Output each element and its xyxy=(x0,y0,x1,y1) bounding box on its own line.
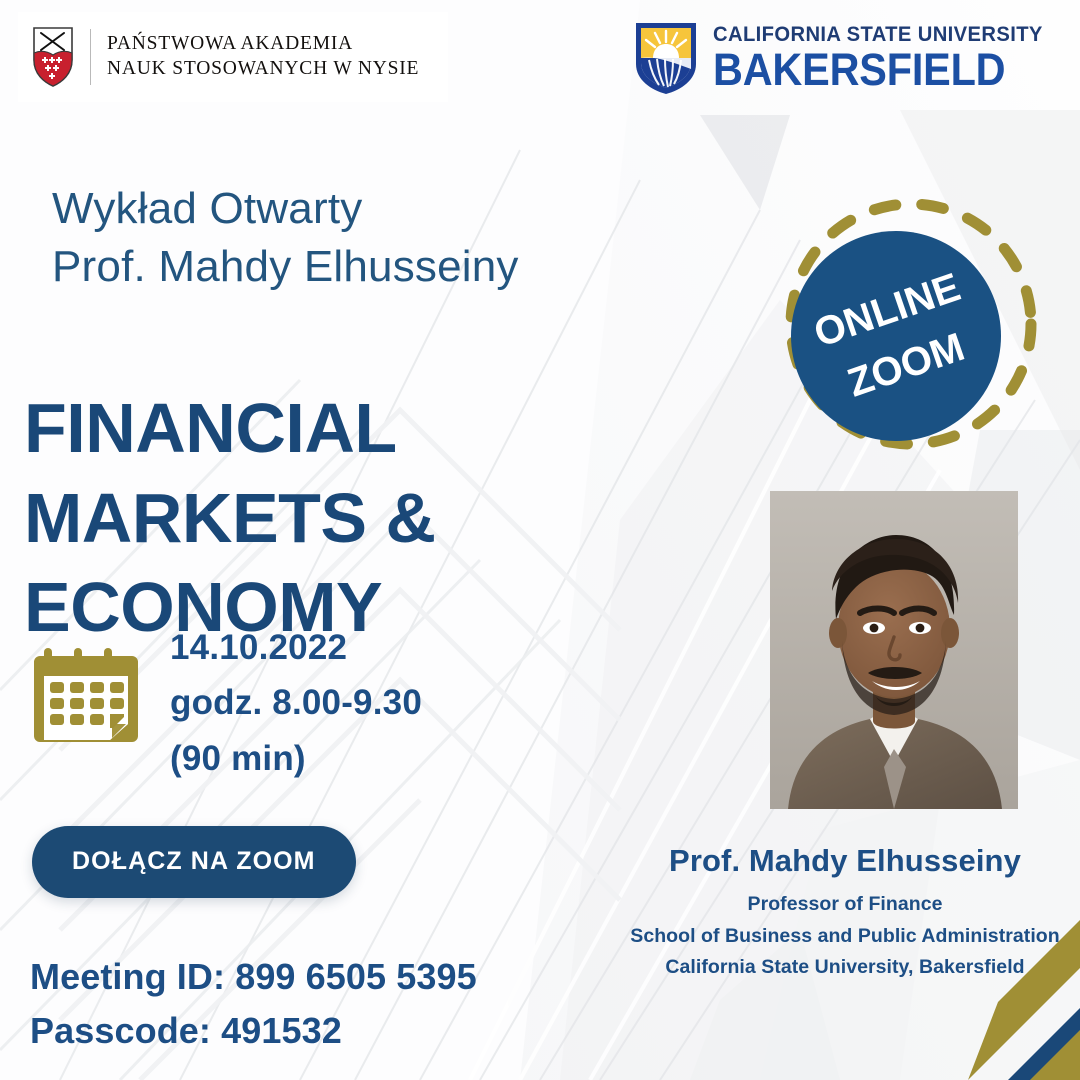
join-zoom-button[interactable]: DOŁĄCZ NA ZOOM xyxy=(32,826,356,898)
logo-left-line1: PAŃSTWOWA AKADEMIA xyxy=(107,32,419,57)
event-time: godz. 8.00-9.30 xyxy=(170,675,422,730)
csub-line1: CALIFORNIA STATE UNIVERSITY xyxy=(713,24,1043,46)
logo-left-line2: NAUK STOSOWANYCH W NYSIE xyxy=(107,57,419,82)
shield-csub-icon xyxy=(633,20,699,96)
event-date: 14.10.2022 xyxy=(170,620,422,675)
poster-canvas: PAŃSTWOWA AKADEMIA NAUK STOSOWANYCH W NY… xyxy=(0,0,1080,1080)
event-kicker: Wykład Otwarty Prof. Mahdy Elhusseiny xyxy=(52,180,519,296)
csub-wordmark: CALIFORNIA STATE UNIVERSITY BAKERSFIELD xyxy=(713,24,1064,92)
logo-panel-right: CALIFORNIA STATE UNIVERSITY BAKERSFIELD xyxy=(633,14,1064,102)
corner-decoration xyxy=(890,910,1080,1080)
event-datetime-block: 14.10.2022 godz. 8.00-9.30 (90 min) xyxy=(30,620,422,786)
logo-divider xyxy=(90,29,91,85)
page-title: FINANCIAL MARKETS & ECONOMY xyxy=(24,384,784,653)
event-datetime-text: 14.10.2022 godz. 8.00-9.30 (90 min) xyxy=(170,620,422,786)
event-duration: (90 min) xyxy=(170,731,422,786)
online-zoom-badge: ONLINE ZOOM xyxy=(756,196,1046,476)
speaker-name: Prof. Mahdy Elhusseiny xyxy=(620,842,1070,879)
kicker-line1: Wykład Otwarty xyxy=(52,180,519,238)
logo-panel-left: PAŃSTWOWA AKADEMIA NAUK STOSOWANYCH W NY… xyxy=(18,12,448,102)
kicker-line2: Prof. Mahdy Elhusseiny xyxy=(52,238,519,296)
title-line1: FINANCIAL xyxy=(24,389,397,467)
logo-left-text: PAŃSTWOWA AKADEMIA NAUK STOSOWANYCH W NY… xyxy=(107,32,419,82)
speaker-photo xyxy=(770,491,1018,809)
meeting-details: Meeting ID: 899 6505 5395 Passcode: 4915… xyxy=(30,950,477,1058)
shield-pans-nysa-icon xyxy=(32,26,74,88)
calendar-icon xyxy=(30,638,140,746)
meeting-passcode: Passcode: 491532 xyxy=(30,1004,477,1058)
meeting-id: Meeting ID: 899 6505 5395 xyxy=(30,950,477,1004)
csub-line2: BAKERSFIELD xyxy=(713,47,1036,92)
